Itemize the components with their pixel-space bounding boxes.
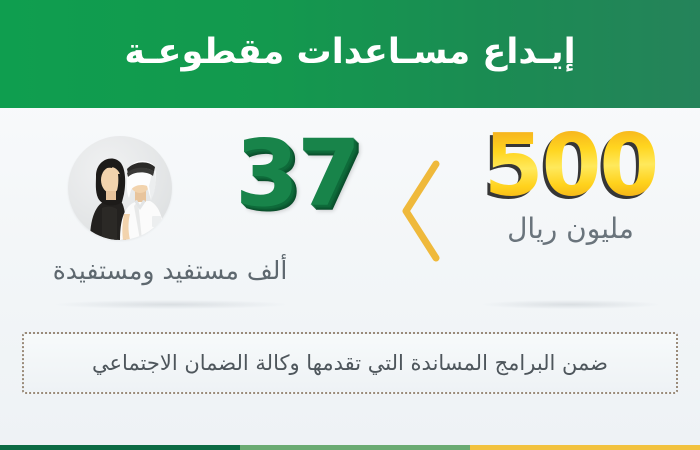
amount-value: 500 bbox=[463, 126, 678, 208]
saudi-couple-avatar-icon bbox=[68, 136, 172, 240]
footer-color-bar bbox=[0, 445, 700, 450]
amount-group: 500 مليون ريال bbox=[463, 126, 678, 245]
left-ground-shadow bbox=[56, 300, 286, 309]
footer-segment-dark-green bbox=[0, 445, 240, 450]
infographic-canvas: إيـداع مسـاعدات مقطوعـة bbox=[0, 0, 700, 450]
chevron-left-icon bbox=[394, 156, 450, 266]
stats-row: 37 ألف مستفيد ومستفيدة 500 مليون ريال bbox=[0, 108, 700, 323]
footer-segment-gold bbox=[470, 445, 700, 450]
footer-segment-medium-green bbox=[240, 445, 470, 450]
right-ground-shadow bbox=[483, 300, 658, 309]
beneficiaries-unit-label: ألف مستفيد ومستفيدة bbox=[20, 256, 320, 285]
note-box: ضمن البرامج المساندة التي تقدمها وكالة ا… bbox=[22, 332, 678, 394]
page-title: إيـداع مسـاعدات مقطوعـة bbox=[124, 32, 575, 76]
header-band: إيـداع مسـاعدات مقطوعـة bbox=[0, 0, 700, 108]
amount-unit-label: مليون ريال bbox=[463, 212, 678, 245]
beneficiaries-count-group: 37 bbox=[212, 130, 382, 217]
note-text: ضمن البرامج المساندة التي تقدمها وكالة ا… bbox=[92, 351, 608, 375]
beneficiaries-count-value: 37 bbox=[212, 130, 382, 217]
